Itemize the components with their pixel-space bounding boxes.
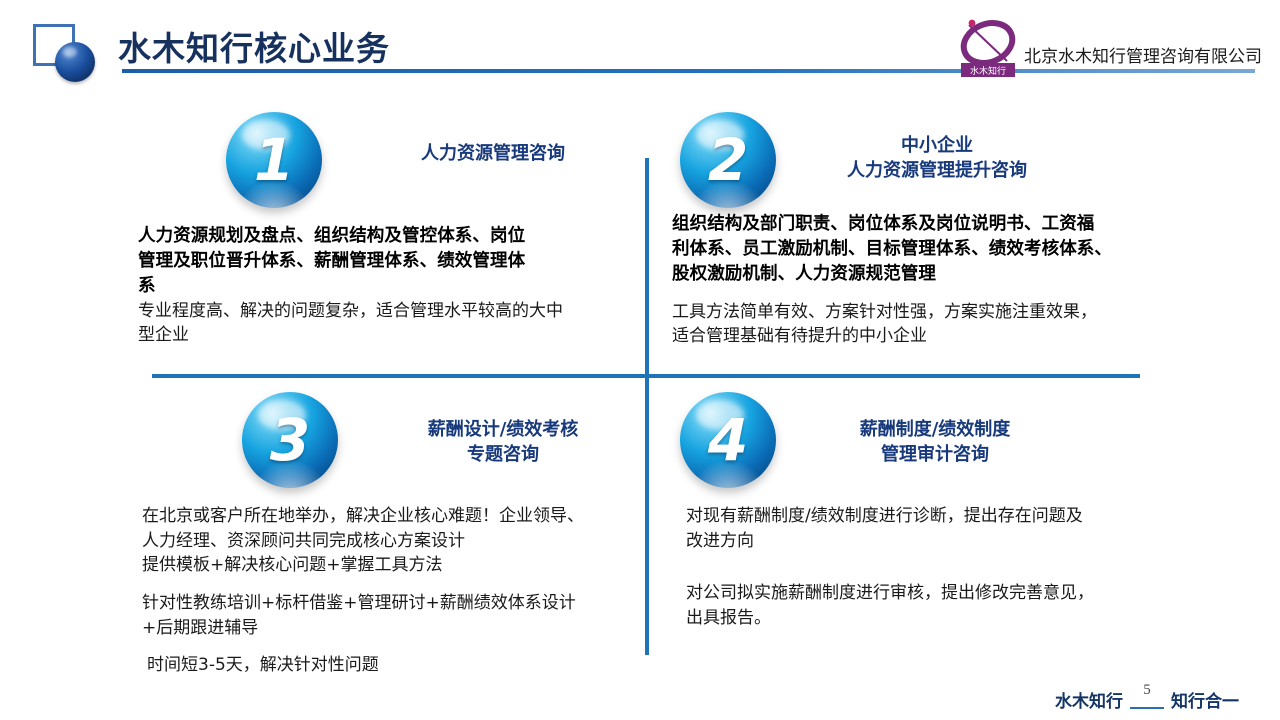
body-line: 管理及职位晋升体系、薪酬管理体系、绩效管理体: [138, 249, 638, 274]
body-line: 针对性教练培训+标杆借鉴+管理研讨+薪酬绩效体系设计: [142, 591, 642, 616]
body-line: 组织结构及部门职责、岗位体系及岗位说明书、工资福: [672, 212, 1152, 237]
title-line: 中小企业: [792, 134, 1082, 159]
body-line: 利体系、员工激励机制、目标管理体系、绩效考核体系、: [672, 237, 1152, 262]
title-line: 管理审计咨询: [790, 443, 1080, 468]
body-line: 专业程度高、解决的问题复杂，适合管理水平较高的大中: [138, 299, 638, 324]
body-line: 时间短3-5天，解决针对性问题: [147, 653, 642, 678]
sphere-icon: [55, 42, 95, 82]
body-line: 股权激励机制、人力资源规范管理: [672, 262, 1152, 287]
orbit-ellipse-logo-icon: 水木知行: [950, 16, 1026, 80]
title-line: 专题咨询: [368, 443, 638, 468]
brand-mark: [33, 24, 93, 80]
body-line: 对公司拟实施薪酬制度进行审核，提出修改完善意见，: [686, 581, 1156, 606]
quadrant-3-body: 在北京或客户所在地举办，解决企业核心难题！企业领导、 人力经理、资深顾问共同完成…: [142, 504, 642, 678]
quadrant-1-body: 人力资源规划及盘点、组织结构及管控体系、岗位 管理及职位晋升体系、薪酬管理体系、…: [138, 224, 638, 348]
body-line: 提供模板+解决核心问题+掌握工具方法: [142, 553, 642, 578]
slide-footer: 水木知行 5 知行合一: [1055, 682, 1239, 712]
quadrant-4-title: 薪酬制度/绩效制度 管理审计咨询: [790, 418, 1080, 468]
body-line: 人力经理、资深顾问共同完成核心方案设计: [142, 529, 642, 554]
body-line: 出具报告。: [686, 606, 1156, 631]
quadrant-4-body: 对现有薪酬制度/绩效制度进行诊断，提出存在问题及 改进方向 对公司拟实施薪酬制度…: [686, 504, 1156, 631]
number-orb-3: 3: [242, 392, 338, 488]
title-line: 人力资源管理提升咨询: [792, 159, 1082, 184]
body-line: +后期跟进辅导: [142, 616, 642, 641]
body-line: 工具方法简单有效、方案针对性强，方案实施注重效果，: [672, 300, 1152, 325]
orb-number-label: 1: [226, 112, 322, 208]
body-line: 适合管理基础有待提升的中小企业: [672, 324, 1152, 349]
header-underline: [122, 69, 1255, 73]
number-orb-2: 2: [680, 112, 776, 208]
quadrant-3-title: 薪酬设计/绩效考核 专题咨询: [368, 418, 638, 468]
body-line: 人力资源规划及盘点、组织结构及管控体系、岗位: [138, 224, 638, 249]
orb-number-label: 2: [680, 112, 776, 208]
quadrant-1-title: 人力资源管理咨询: [358, 142, 628, 167]
orb-number-label: 4: [680, 392, 776, 488]
body-line: 对现有薪酬制度/绩效制度进行诊断，提出存在问题及: [686, 504, 1156, 529]
slide-header: 水木知行核心业务 水木知行 北京水木知行管理咨询有限公司: [0, 0, 1280, 92]
page-title: 水木知行核心业务: [118, 22, 390, 70]
company-name: 北京水木知行管理咨询有限公司: [1024, 42, 1262, 67]
body-line: 改进方向: [686, 529, 1156, 554]
title-line: 薪酬制度/绩效制度: [790, 418, 1080, 443]
number-orb-1: 1: [226, 112, 322, 208]
page-number-group: 5: [1128, 686, 1166, 712]
slide-root: 水木知行核心业务 水木知行 北京水木知行管理咨询有限公司 1 人力资源管理咨询 …: [0, 0, 1280, 720]
vertical-divider: [645, 158, 649, 655]
orb-number-label: 3: [242, 392, 338, 488]
number-orb-4: 4: [680, 392, 776, 488]
quadrant-2-body: 组织结构及部门职责、岗位体系及岗位说明书、工资福 利体系、员工激励机制、目标管理…: [672, 212, 1152, 349]
title-line: 薪酬设计/绩效考核: [368, 418, 638, 443]
svg-text:水木知行: 水木知行: [970, 65, 1006, 77]
footer-right-text: 知行合一: [1171, 687, 1239, 712]
body-line: 在北京或客户所在地举办，解决企业核心难题！企业领导、: [142, 504, 642, 529]
body-line: 型企业: [138, 323, 638, 348]
page-number: 5: [1128, 682, 1166, 699]
page-number-underline: [1130, 707, 1164, 709]
quadrant-2-title: 中小企业 人力资源管理提升咨询: [792, 134, 1082, 184]
body-line: 系: [138, 274, 638, 299]
footer-left-text: 水木知行: [1055, 687, 1123, 712]
